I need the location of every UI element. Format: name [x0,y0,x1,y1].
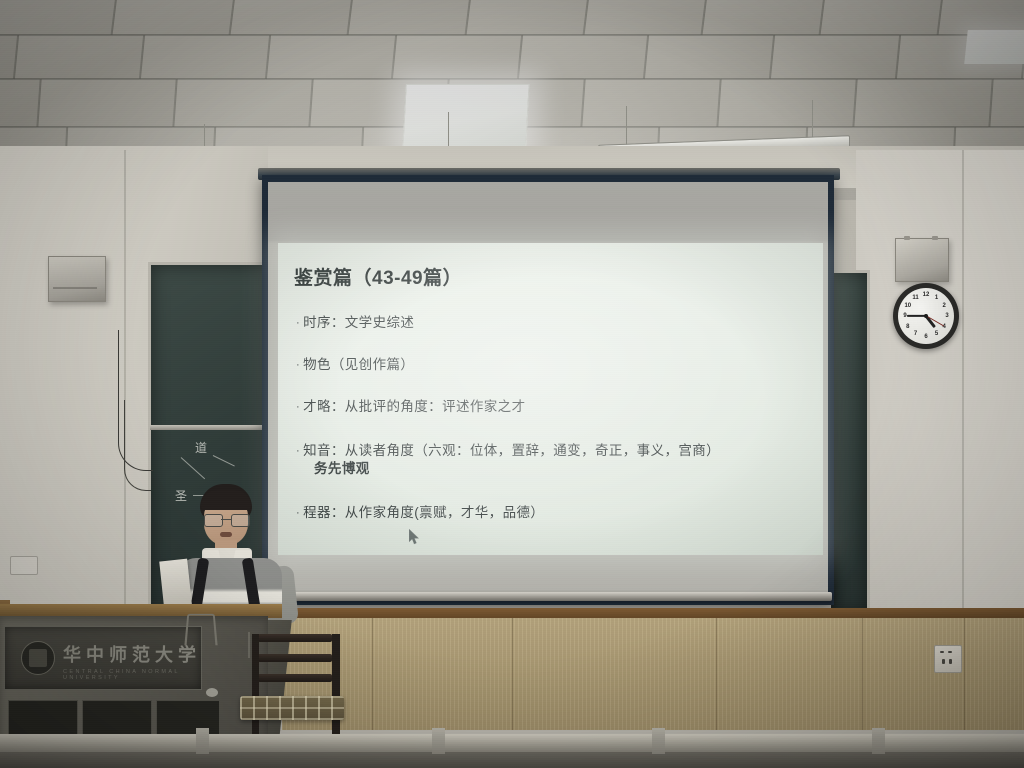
glasses-lens-right [231,514,250,527]
wainscot-seam [372,618,373,730]
chalk-text-top: 道 [195,439,207,456]
ceiling-tile [466,0,589,36]
ceiling-tile [0,78,41,128]
speaker-bolt [932,236,938,240]
slide-bullet-1-text: 时序：文学史综述 [303,315,414,330]
ceiling-tile [582,78,721,128]
clock-numeral: 11 [912,294,920,302]
slide-bullet-3-text: 才略：从批评的角度：评述作家之才 [303,399,525,414]
bullet-marker: · [296,507,300,519]
bullet-marker: · [296,359,300,371]
chalk-diagram-line [181,457,205,479]
ceiling-tile [392,34,522,80]
wall-speaker-right [895,238,949,282]
wall-clock: 121234567891011 [893,283,959,349]
wall-speaker-left [48,256,106,302]
podium-knob[interactable] [206,688,218,697]
chair-slat [258,634,332,642]
podium-front-panel [156,700,220,736]
slide-title: 鉴赏篇（43-49篇） [294,263,462,290]
lectern-microphone-basket [184,614,217,645]
desk-rail-post [872,728,885,754]
ceiling-tile [702,0,825,36]
clock-center-pin [924,314,928,318]
university-name-en: CENTRAL CHINA NORMAL UNIVERSITY [63,669,201,681]
ceiling-panel-light-secondary [964,30,1024,64]
clock-numeral: 3 [943,312,951,320]
wainscot-seam [512,618,513,730]
wainscot-seam [964,618,965,730]
podium-front-panel [8,700,78,736]
ceiling-tile [718,78,857,128]
ceiling-tile [266,34,396,80]
slide-bullet-2: ·物色（见创作篇） [296,353,414,373]
slide-bullet-5-text: 程器：从作家角度(禀赋，才华，品德） [303,505,544,520]
university-seal-icon [21,641,55,675]
presentation-slide: 鉴赏篇（43-49篇） ·时序：文学史综述 ·物色（见创作篇） ·才略：从批评的… [278,243,823,555]
right-wall [856,150,1024,620]
wall-seam [962,150,964,610]
chalk-diagram-line [213,455,235,466]
outlet-slot [942,659,945,664]
podium-front-panel [82,700,152,736]
desk-rail-post [432,728,445,754]
clock-numeral: 7 [912,330,920,338]
presenter-hair-fringe [201,490,251,510]
front-desk-rail [0,734,1024,754]
blackboard-middle-rail [150,425,276,430]
ceiling-tile [348,0,471,36]
outlet-slot [940,651,944,653]
bullet-marker: · [296,317,300,329]
clock-numeral: 2 [940,302,948,310]
chair-backrest [254,634,336,692]
ceiling-tile [820,0,943,36]
outlet-slot [948,651,952,653]
clock-numeral: 5 [933,330,941,338]
ceiling-tile [990,78,1024,128]
podium-university-sign: 华中师范大学 CENTRAL CHINA NORMAL UNIVERSITY [4,626,202,690]
ceiling-tile [112,0,235,36]
wainscot-seam [862,618,863,730]
glasses-lens-left [204,514,223,527]
projector-screen-weight-bar [266,592,832,601]
ceiling-tile [854,78,993,128]
ceiling-tile [174,78,313,128]
slide-bullet-5: ·程器：从作家角度(禀赋，才华，品德） [296,501,544,521]
ceiling-tile [584,0,707,36]
presenter-glasses-icon [204,514,248,525]
clock-face: 121234567891011 [898,288,954,344]
bullet-marker: · [296,445,300,457]
bullet-marker: · [296,401,300,413]
wall-power-outlet[interactable] [934,645,962,673]
hanging-cable-secondary [124,400,151,491]
ceiling-tile [770,34,900,80]
slide-bullet-4-cont-bold: 博观 [342,461,370,476]
speaker-bolt [904,236,910,240]
slide-bullet-2-text: 物色（见创作篇） [303,357,414,372]
ceiling-tile [38,78,177,128]
slide-bullet-3: ·才略：从批评的角度：评述作家之才 [296,395,525,415]
clock-numeral: 12 [922,291,930,299]
clock-numeral: 6 [922,333,930,341]
university-name-cn: 华中师范大学 [63,641,201,667]
clock-numeral: 10 [904,302,912,310]
blackboard-right-edge [828,270,870,616]
wainscot-panel [282,618,1024,730]
slide-bullet-4-text: 知音：从读者角度（六观：位体，置辞，通变，奇正，事义，宫商） [303,443,720,458]
ceiling-tile [140,34,270,80]
ceiling-tile [0,0,117,36]
ceiling-panel-light [402,84,529,148]
chair-slat [258,674,332,682]
slide-bullet-1: ·时序：文学史综述 [296,311,414,331]
ceiling-tile [518,34,648,80]
desk-rail-post [196,728,209,754]
ceiling-tile [644,34,774,80]
presenter-mouth [220,532,232,537]
glasses-bridge [221,519,231,520]
chair-seat-cushion [240,696,344,720]
slide-bullet-4-continuation: 务先博观 [314,457,370,477]
outlet-slot [949,659,952,664]
clock-numeral: 8 [904,323,912,331]
ceiling-tile [14,34,144,80]
ceiling-tile [230,0,353,36]
classroom-photo-scene: 121234567891011 道 圣 鉴赏篇（43-49篇） ·时序：文学史综… [0,0,1024,768]
light-switch-plate[interactable] [10,556,38,575]
wainscot-seam [716,618,717,730]
chair-slat [258,654,332,662]
slide-bullet-4: ·知音：从读者角度（六观：位体，置辞，通变，奇正，事义，宫商） [296,439,720,459]
front-desk-shadow [0,752,1024,768]
desk-rail-post [652,728,665,754]
slide-bullet-4-cont-normal: 务先 [314,461,342,476]
